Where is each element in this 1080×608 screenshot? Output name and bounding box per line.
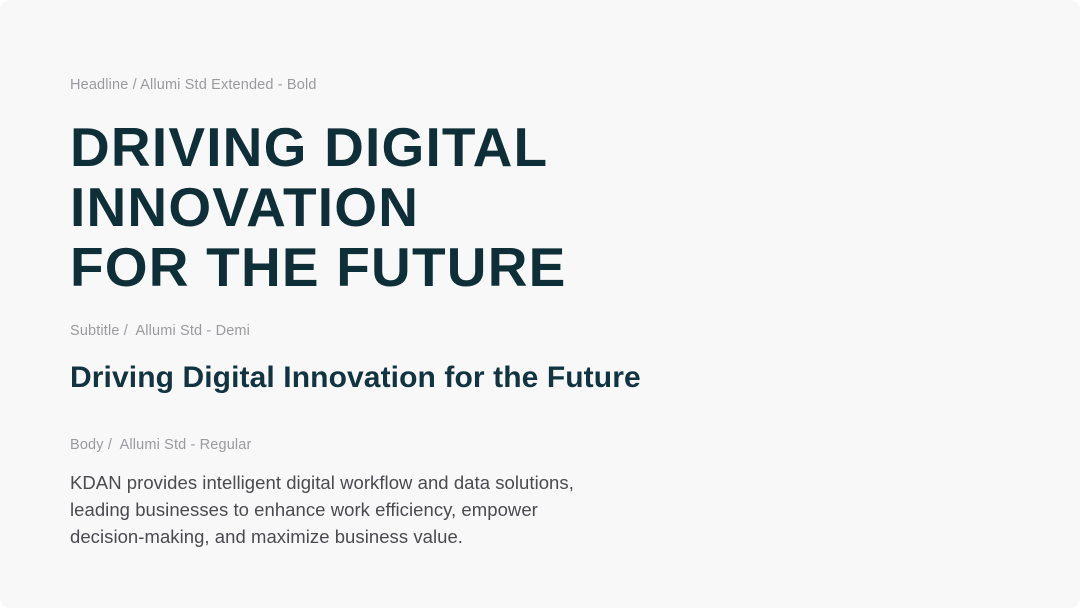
- headline-line-3: FOR THE FUTURE: [70, 237, 567, 297]
- subtitle-specimen-block: Subtitle / Allumi Std - Demi Driving Dig…: [70, 324, 641, 394]
- typography-specimen-card: Headline / Allumi Std Extended - Bold DR…: [0, 0, 1080, 608]
- headline-line-1: DRIVING DIGITAL: [70, 117, 567, 177]
- headline-text: DRIVING DIGITAL INNOVATION FOR THE FUTUR…: [70, 117, 567, 297]
- subtitle-spec-label: Subtitle / Allumi Std - Demi: [70, 324, 641, 339]
- subtitle-text: Driving Digital Innovation for the Futur…: [70, 361, 641, 394]
- body-specimen-block: Body / Allumi Std - Regular KDAN provide…: [70, 438, 574, 550]
- body-line-3: decision-making, and maximize business v…: [70, 523, 574, 550]
- body-text: KDAN provides intelligent digital workfl…: [70, 469, 574, 550]
- headline-spec-label: Headline / Allumi Std Extended - Bold: [70, 78, 567, 93]
- body-spec-label: Body / Allumi Std - Regular: [70, 438, 574, 453]
- headline-specimen-block: Headline / Allumi Std Extended - Bold DR…: [70, 78, 567, 297]
- body-line-2: leading businesses to enhance work effic…: [70, 496, 574, 523]
- body-line-1: KDAN provides intelligent digital workfl…: [70, 469, 574, 496]
- headline-line-2: INNOVATION: [70, 177, 567, 237]
